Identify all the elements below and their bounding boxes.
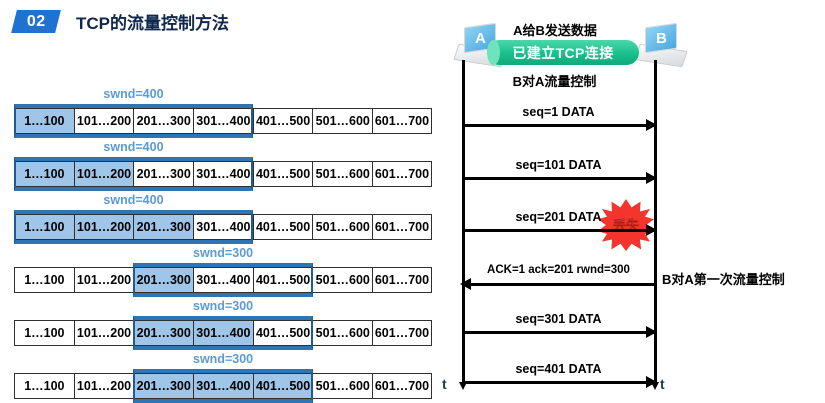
byte-segment-cell: 501…600 (312, 373, 372, 399)
message-label: seq=301 DATA (462, 312, 655, 326)
section-number-badge: 02 (11, 10, 61, 33)
message-label: ACK=1 ack=201 rwnd=300 (462, 264, 655, 276)
byte-segment-cell: 1…100 (14, 108, 74, 134)
byte-stream-row: swnd=3001…100101…200201…300301…400401…50… (14, 320, 432, 346)
laptop-screen: B (645, 23, 677, 53)
byte-segment-cell: 501…600 (312, 108, 372, 134)
byte-segment-cell: 1…100 (14, 320, 74, 346)
byte-segment-cell: 201…300 (133, 267, 193, 293)
byte-segment-cell: 401…500 (253, 161, 313, 187)
byte-segment-cell: 601…700 (372, 373, 432, 399)
message-label: seq=201 DATA (462, 210, 655, 224)
byte-segment-cell: 401…500 (253, 267, 313, 293)
message-arrow (462, 283, 655, 286)
byte-segment-cells: 1…100101…200201…300301…400401…500501…600… (14, 161, 432, 187)
caption-send-data: A给B发送数据 (500, 20, 610, 39)
byte-segment-cells: 1…100101…200201…300301…400401…500501…600… (14, 320, 432, 346)
host-b-label: B (656, 30, 667, 47)
send-window-size-label: swnd=400 (103, 193, 163, 207)
section-number: 02 (27, 12, 46, 30)
byte-segment-cell: 1…100 (14, 161, 74, 187)
byte-segment-cell: 1…100 (14, 267, 74, 293)
byte-segment-cell: 101…200 (74, 267, 134, 293)
page-title-text: TCP的流量控制方法 (76, 9, 229, 34)
byte-segment-cell: 201…300 (133, 373, 193, 399)
byte-stream-row: swnd=4001…100101…200201…300301…400401…50… (14, 214, 432, 240)
byte-segment-cell: 301…400 (193, 108, 253, 134)
arrowhead-icon (646, 326, 657, 338)
byte-segment-cell: 401…500 (253, 214, 313, 240)
byte-segment-cell: 1…100 (14, 373, 74, 399)
byte-segment-cell: 201…300 (133, 108, 193, 134)
send-window-size-label: swnd=300 (193, 299, 253, 313)
message-arrow (462, 229, 655, 232)
arrowhead-icon (646, 119, 657, 131)
byte-segment-cell: 401…500 (253, 373, 313, 399)
time-axis-label-right: t (660, 376, 665, 392)
byte-stream-row: swnd=4001…100101…200201…300301…400401…50… (14, 108, 432, 134)
byte-segment-cells: 1…100101…200201…300301…400401…500501…600… (14, 373, 432, 399)
arrowhead-icon (646, 224, 657, 236)
byte-segment-cell: 301…400 (193, 373, 253, 399)
send-window-size-label: swnd=400 (103, 87, 163, 101)
message-label: seq=1 DATA (462, 105, 655, 119)
byte-segment-cell: 201…300 (133, 161, 193, 187)
byte-segment-cell: 101…200 (74, 161, 134, 187)
byte-segment-cell: 301…400 (193, 267, 253, 293)
byte-segment-cell: 401…500 (253, 108, 313, 134)
message-arrow (462, 124, 655, 127)
message-arrow (462, 177, 655, 180)
tcp-connection-established-banner: 已建立TCP连接 (487, 40, 639, 65)
byte-segment-cell: 401…500 (253, 320, 313, 346)
byte-segment-cells: 1…100101…200201…300301…400401…500501…600… (14, 214, 432, 240)
byte-segment-cell: 601…700 (372, 267, 432, 293)
send-window-size-label: swnd=300 (193, 246, 253, 260)
byte-segment-cell: 1…100 (14, 214, 74, 240)
send-window-size-label: swnd=400 (103, 140, 163, 154)
byte-segment-cell: 601…700 (372, 214, 432, 240)
byte-segment-cell: 301…400 (193, 320, 253, 346)
byte-segment-cells: 1…100101…200201…300301…400401…500501…600… (14, 108, 432, 134)
time-axis-label-left: t (442, 376, 447, 392)
byte-stream-row: swnd=3001…100101…200201…300301…400401…50… (14, 373, 432, 399)
host-a-label: A (475, 30, 486, 47)
page-title: 02 TCP的流量控制方法 (14, 9, 229, 33)
message-arrow (462, 381, 655, 384)
tcp-connection-text: 已建立TCP连接 (512, 43, 613, 63)
arrowhead-icon (646, 172, 657, 184)
byte-segment-cell: 101…200 (74, 214, 134, 240)
byte-segment-cell: 201…300 (133, 214, 193, 240)
host-b-laptop-icon: B (637, 25, 683, 65)
byte-segment-cell: 301…400 (193, 214, 253, 240)
byte-segment-cell: 501…600 (312, 161, 372, 187)
byte-stream-row: swnd=3001…100101…200201…300301…400401…50… (14, 267, 432, 293)
byte-segment-cell: 601…700 (372, 320, 432, 346)
caption-flow-control: B对A流量控制 (502, 71, 607, 90)
message-arrow (462, 331, 655, 334)
byte-segment-cell: 501…600 (312, 320, 372, 346)
first-flow-control-note: B对A第一次流量控制 (662, 269, 785, 288)
byte-stream-row: swnd=4001…100101…200201…300301…400401…50… (14, 161, 432, 187)
byte-segment-cells: 1…100101…200201…300301…400401…500501…600… (14, 267, 432, 293)
byte-segment-cell: 201…300 (133, 320, 193, 346)
byte-segment-cell: 501…600 (312, 214, 372, 240)
send-window-diagram: swnd=4001…100101…200201…300301…400401…50… (0, 88, 440, 401)
byte-segment-cell: 601…700 (372, 161, 432, 187)
tcp-sequence-diagram: A B A给B发送数据 已建立TCP连接 B对A流量控制 丢失 B对A第一次流量… (440, 0, 825, 401)
message-label: seq=101 DATA (462, 158, 655, 172)
arrowhead-icon (646, 376, 657, 388)
arrowhead-icon (460, 278, 471, 290)
byte-segment-cell: 101…200 (74, 320, 134, 346)
byte-segment-cell: 301…400 (193, 161, 253, 187)
byte-segment-cell: 501…600 (312, 267, 372, 293)
byte-segment-cell: 101…200 (74, 108, 134, 134)
message-label: seq=401 DATA (462, 362, 655, 376)
send-window-size-label: swnd=300 (193, 352, 253, 366)
byte-segment-cell: 101…200 (74, 373, 134, 399)
byte-segment-cell: 601…700 (372, 108, 432, 134)
